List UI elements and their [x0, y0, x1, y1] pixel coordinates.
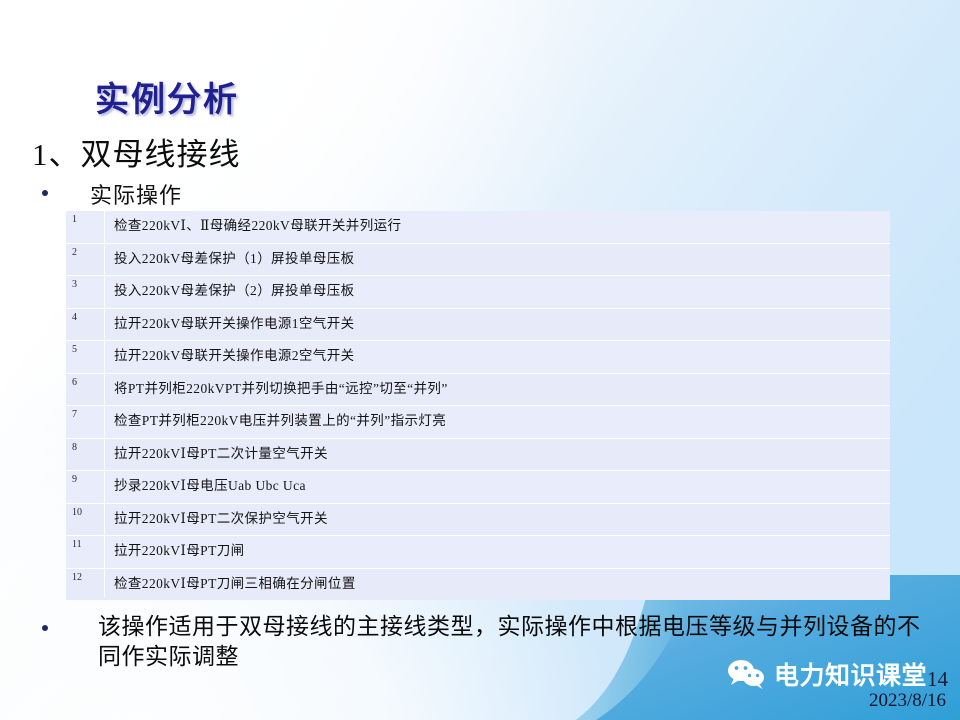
page-title: 实例分析 [95, 72, 239, 121]
page-number: 14 [927, 667, 948, 692]
table-row: 3投入220kV母差保护（2）屏投单母压板 [66, 276, 890, 309]
table-row-text: 检查220kVⅠ、Ⅱ母确经220kV母联开关并列运行 [110, 211, 890, 233]
table-row: 12检查220kVⅠ母PT刀闸三相确在分闸位置 [66, 569, 890, 601]
table-row: 4拉开220kV母联开关操作电源1空气开关 [66, 309, 890, 342]
bottom-note-text: 该操作适用于双母接线的主接线类型，实际操作中根据电压等级与并列设备的不同作实际调… [98, 612, 922, 673]
bullet-dot-icon [42, 625, 48, 631]
table-row: 10拉开220kVⅠ母PT二次保护空气开关 [66, 504, 890, 537]
table-row-text: 投入220kV母差保护（2）屏投单母压板 [110, 276, 890, 298]
sub-bullet-actual-operation: 实际操作 [42, 178, 182, 210]
bottom-note-bullet: 该操作适用于双母接线的主接线类型，实际操作中根据电压等级与并列设备的不同作实际调… [42, 612, 922, 673]
table-row: 6将PT并列柜220kVPT并列切换把手由“远控”切至“并列” [66, 374, 890, 407]
table-row-text: 检查220kVⅠ母PT刀闸三相确在分闸位置 [110, 569, 890, 591]
table-row: 9抄录220kVⅠ母电压Uab Ubc Uca [66, 471, 890, 504]
bullet-dot-icon [42, 190, 48, 196]
sub-bullet-label: 实际操作 [90, 178, 182, 210]
footer-date: 2023/8/16 [869, 690, 946, 712]
table-row-text: 拉开220kV母联开关操作电源2空气开关 [110, 341, 890, 363]
table-column-divider [104, 211, 105, 597]
table-row: 1检查220kVⅠ、Ⅱ母确经220kV母联开关并列运行 [66, 211, 890, 244]
table-row: 7检查PT并列柜220kV电压并列装置上的“并列”指示灯亮 [66, 406, 890, 439]
table-row-text: 检查PT并列柜220kV电压并列装置上的“并列”指示灯亮 [110, 406, 890, 428]
table-row-text: 拉开220kV母联开关操作电源1空气开关 [110, 309, 890, 331]
procedure-table: 1检查220kVⅠ、Ⅱ母确经220kV母联开关并列运行2投入220kV母差保护（… [66, 211, 890, 600]
table-row-text: 将PT并列柜220kVPT并列切换把手由“远控”切至“并列” [110, 374, 890, 396]
table-row: 8拉开220kVⅠ母PT二次计量空气开关 [66, 439, 890, 472]
heading-level-1: 1、双母线接线 [32, 129, 241, 174]
table-row: 2投入220kV母差保护（1）屏投单母压板 [66, 244, 890, 277]
table-row-text: 拉开220kVⅠ母PT刀闸 [110, 536, 890, 558]
table-row: 5拉开220kV母联开关操作电源2空气开关 [66, 341, 890, 374]
table-row-text: 拉开220kVⅠ母PT二次保护空气开关 [110, 504, 890, 526]
table-row: 11拉开220kVⅠ母PT刀闸 [66, 536, 890, 569]
table-row-text: 抄录220kVⅠ母电压Uab Ubc Uca [110, 471, 890, 493]
table-row-text: 投入220kV母差保护（1）屏投单母压板 [110, 244, 890, 266]
slide-canvas: 实例分析 1、双母线接线 实际操作 1检查220kVⅠ、Ⅱ母确经220kV母联开… [0, 0, 960, 720]
table-row-text: 拉开220kVⅠ母PT二次计量空气开关 [110, 439, 890, 461]
